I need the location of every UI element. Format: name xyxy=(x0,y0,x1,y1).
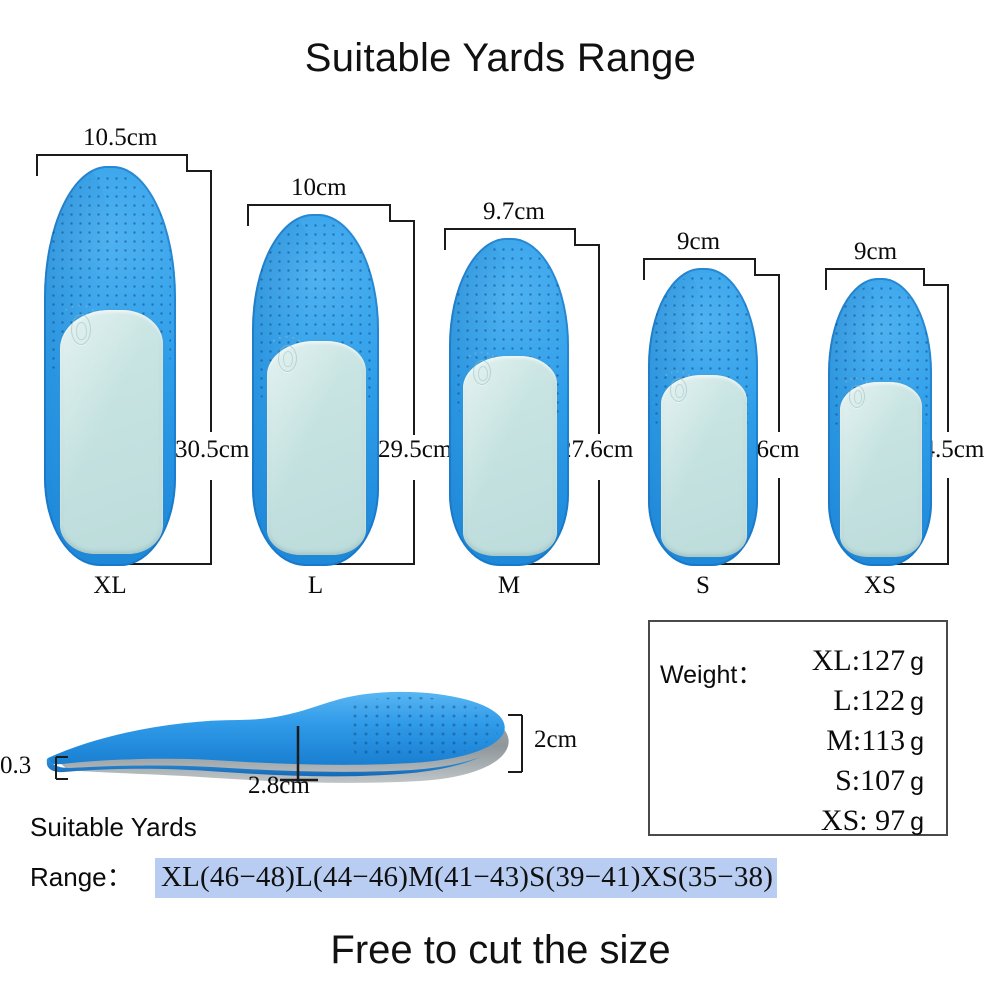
weight-value-m: 113 xyxy=(861,724,905,758)
height-bracket-line-upper-s xyxy=(778,274,780,432)
height-bracket-line-lower-xs xyxy=(947,478,949,564)
weight-row-m: M: 113 g xyxy=(724,724,924,758)
width-bracket-top-m xyxy=(444,228,576,230)
size-label-xs: XS xyxy=(828,572,932,600)
insole-top-view-xl xyxy=(44,166,176,566)
weight-rows: XL: 127 g L: 122 g M: 113 g S: 107 g XS: xyxy=(724,644,924,838)
footer-note: Free to cut the size xyxy=(0,928,1001,973)
insole-top-view-m xyxy=(449,238,569,566)
brand-emboss-icon-l xyxy=(270,334,303,373)
weight-size-m: M: xyxy=(826,724,861,758)
height-bracket-top-m xyxy=(574,244,600,246)
side-profile-group: 0.3 2.8cm 2cm xyxy=(0,686,600,811)
heel-height-label: 2cm xyxy=(534,726,577,754)
height-bracket-line-upper-xl xyxy=(210,170,212,432)
height-bracket-line-lower-s xyxy=(778,478,780,564)
weight-value-l: 122 xyxy=(860,684,905,718)
size-label-m: M xyxy=(449,572,569,600)
insole-top-view-l xyxy=(252,214,379,566)
insole-body-xl xyxy=(44,166,176,566)
length-label-xl: 30.5cm xyxy=(175,436,249,464)
width-bracket-tick-left-m xyxy=(444,228,446,250)
insole-body-m xyxy=(449,238,569,566)
weight-box: Weight： XL: 127 g L: 122 g M: 113 g S: 1… xyxy=(648,620,948,836)
weight-value-xl: 127 xyxy=(860,644,905,678)
weight-row-s: S: 107 g xyxy=(724,764,924,798)
height-bracket-line-lower-l xyxy=(413,480,415,565)
insole-top-view-s xyxy=(648,268,758,566)
brand-emboss-icon-s xyxy=(663,369,692,402)
weight-size-s: S: xyxy=(835,764,860,798)
page-title: Suitable Yards Range xyxy=(0,36,1001,81)
width-bracket-tick-left-s xyxy=(643,258,645,280)
width-bracket-top-s xyxy=(643,258,756,260)
weight-unit-s: g xyxy=(910,768,924,797)
weight-unit-m: g xyxy=(910,728,924,757)
weight-row-l: L: 122 g xyxy=(724,684,924,718)
width-bracket-top-xs xyxy=(825,268,925,270)
width-label-xl: 10.5cm xyxy=(83,124,157,152)
weight-unit-xl: g xyxy=(910,648,924,677)
range-value[interactable]: XL(46−48)L(44−46)M(41−43)S(39−41)XS(35−3… xyxy=(155,858,777,898)
width-label-m: 9.7cm xyxy=(483,198,545,226)
brand-emboss-icon-xl xyxy=(62,302,96,346)
arch-pad-l xyxy=(267,341,366,556)
arch-pad-s xyxy=(661,375,747,557)
arch-pad-xl xyxy=(60,310,163,554)
length-label-m: 27.6cm xyxy=(559,436,633,464)
weight-row-xl: XL: 127 g xyxy=(724,644,924,678)
suitable-yards-range-block: Suitable Yards Range： XL(46−48)L(44−46)M… xyxy=(30,812,990,898)
range-label-line2: Range： xyxy=(30,857,155,894)
size-label-xl: XL xyxy=(44,572,176,600)
width-bracket-top-l xyxy=(247,204,391,206)
range-label-line1: Suitable Yards xyxy=(30,812,990,843)
insole-body-xs xyxy=(828,278,932,566)
height-bracket-line-lower-xl xyxy=(210,480,212,565)
diagram-canvas: Suitable Yards Range 10.5cm 30.5cm XL 10… xyxy=(0,0,1001,1001)
weight-value-s: 107 xyxy=(860,764,905,798)
brand-emboss-icon-m xyxy=(466,350,497,386)
width-label-xs: 9cm xyxy=(854,238,897,266)
height-bracket-top-l xyxy=(389,220,415,222)
width-bracket-top-xl xyxy=(36,154,188,156)
toe-thickness-label: 0.3 xyxy=(0,752,31,780)
width-label-s: 9cm xyxy=(677,228,720,256)
width-bracket-tick-left-l xyxy=(247,204,249,226)
width-bracket-tick-left-xs xyxy=(825,268,827,290)
brand-emboss-icon-xs xyxy=(843,376,870,408)
length-label-l: 29.5cm xyxy=(378,436,452,464)
arch-pad-m xyxy=(463,356,557,556)
size-label-l: L xyxy=(252,572,379,600)
insole-body-l xyxy=(252,214,379,566)
height-bracket-top-xl xyxy=(186,170,212,172)
height-bracket-line-lower-m xyxy=(598,480,600,565)
weight-size-xl: XL: xyxy=(812,644,860,678)
height-bracket-line-upper-xs xyxy=(947,284,949,432)
height-bracket-line-upper-l xyxy=(413,220,415,435)
width-label-l: 10cm xyxy=(291,174,347,202)
arch-pad-xs xyxy=(840,382,921,558)
insole-body-s xyxy=(648,268,758,566)
weight-unit-l: g xyxy=(910,688,924,717)
insole-top-view-xs xyxy=(828,278,932,566)
width-bracket-tick-left-xl xyxy=(36,154,38,176)
weight-size-l: L: xyxy=(833,684,860,718)
arch-height-label: 2.8cm xyxy=(248,772,310,800)
height-bracket-line-upper-m xyxy=(598,244,600,434)
size-label-s: S xyxy=(648,572,758,600)
